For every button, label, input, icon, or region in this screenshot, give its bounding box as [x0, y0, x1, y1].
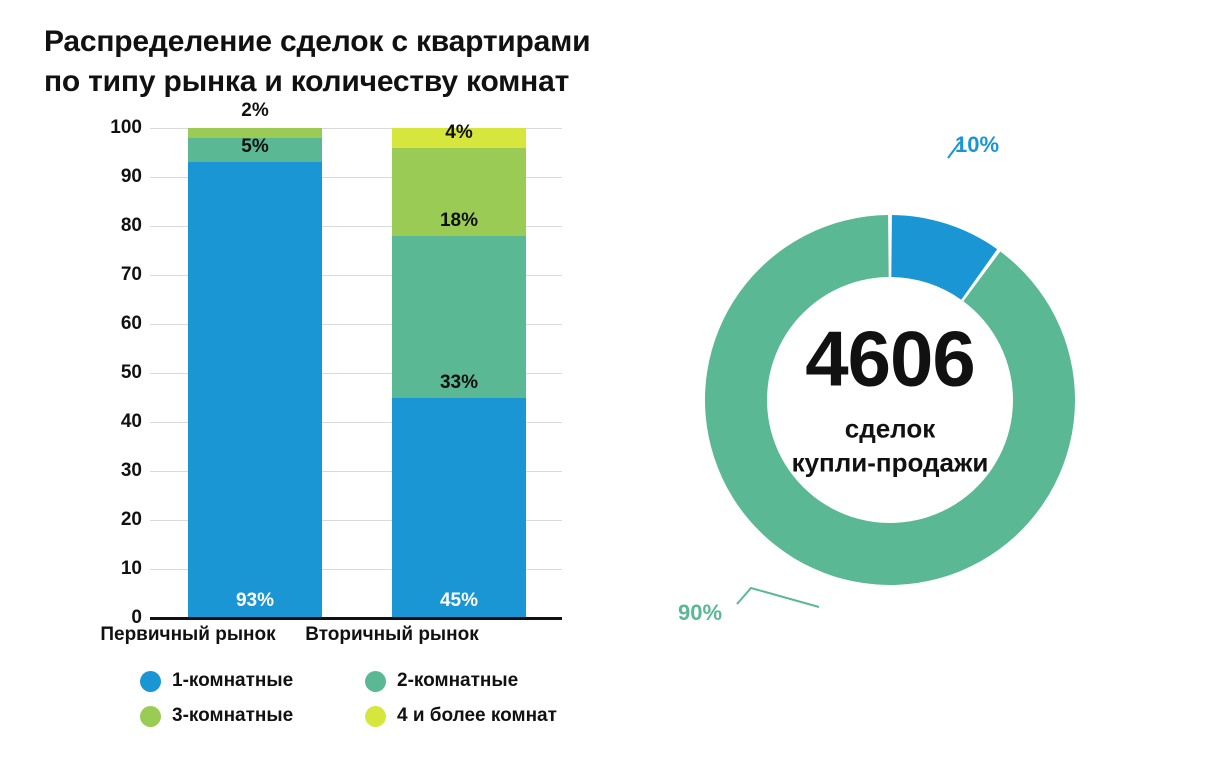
- legend-label: 2-комнатные: [397, 670, 518, 692]
- bar-segment[interactable]: 2%: [188, 128, 322, 138]
- legend-swatch-icon: [140, 671, 161, 692]
- bar-segment[interactable]: 4%: [392, 128, 526, 148]
- y-axis-tick: 100: [110, 117, 142, 139]
- x-axis-label-0: Первичный рынок: [78, 624, 298, 646]
- bar-segment-label: 45%: [392, 591, 526, 610]
- bar-segment-label: 18%: [392, 211, 526, 230]
- legend-item-2[interactable]: 3-комнатные: [140, 705, 365, 727]
- y-axis-tick-labels: 0102030405060708090100: [92, 128, 142, 618]
- donut-chart-panel: 4606 сделок купли-продажи 10% 90% Первич…: [600, 0, 1229, 767]
- bar-segment-label: 4%: [392, 123, 526, 142]
- y-axis-tick: 60: [121, 313, 142, 335]
- legend-swatch-icon: [365, 671, 386, 692]
- bar-segment-label: 2%: [188, 101, 322, 120]
- legend-swatch-icon: [140, 706, 161, 727]
- bar-segment[interactable]: 45%: [392, 398, 526, 619]
- y-axis-tick: 50: [121, 362, 142, 384]
- y-axis-tick: 30: [121, 460, 142, 482]
- y-axis-tick: 40: [121, 411, 142, 433]
- x-axis-line: [150, 617, 562, 620]
- bar-column[interactable]: 4%18%33%45%: [392, 128, 526, 618]
- legend-label: 3-комнатные: [172, 705, 293, 727]
- y-axis-tick: 10: [121, 558, 142, 580]
- bar-segment[interactable]: 5%: [188, 138, 322, 163]
- bar-segment[interactable]: 93%: [188, 162, 322, 618]
- leader-line-1: [737, 588, 819, 607]
- bar-segment-label: 5%: [188, 137, 322, 156]
- bar-segment[interactable]: 33%: [392, 236, 526, 398]
- donut-svg: [705, 215, 1075, 585]
- bar-column[interactable]: 2%5%93%: [188, 128, 322, 618]
- bar-chart-legend: 1-комнатные2-комнатные3-комнатные4 и бол…: [140, 670, 590, 740]
- donut-chart: 4606 сделок купли-продажи: [705, 215, 1075, 585]
- bar-segment-label: 93%: [188, 591, 322, 610]
- donut-percent-label-0: 10%: [955, 132, 999, 158]
- legend-label: 4 и более комнат: [397, 705, 557, 727]
- y-axis-tick: 80: [121, 215, 142, 237]
- donut-slice-1[interactable]: [705, 215, 1075, 585]
- y-axis-tick: 70: [121, 264, 142, 286]
- legend-swatch-icon: [365, 706, 386, 727]
- bar-plot-area: 2%5%93%4%18%33%45%: [150, 128, 562, 618]
- y-axis-tick: 20: [121, 509, 142, 531]
- legend-label: 1-комнатные: [172, 670, 293, 692]
- legend-item-0[interactable]: 1-комнатные: [140, 670, 365, 692]
- y-axis-tick: 90: [121, 166, 142, 188]
- bar-chart-panel: 0102030405060708090100 2%5%93%4%18%33%45…: [0, 0, 600, 767]
- legend-item-3[interactable]: 4 и более комнат: [365, 705, 590, 727]
- x-axis-label-1: Вторичный рынок: [282, 624, 502, 646]
- bar-segment-label: 33%: [392, 373, 526, 392]
- donut-percent-label-1: 90%: [678, 600, 722, 626]
- bar-segment[interactable]: 18%: [392, 148, 526, 236]
- legend-item-1[interactable]: 2-комнатные: [365, 670, 590, 692]
